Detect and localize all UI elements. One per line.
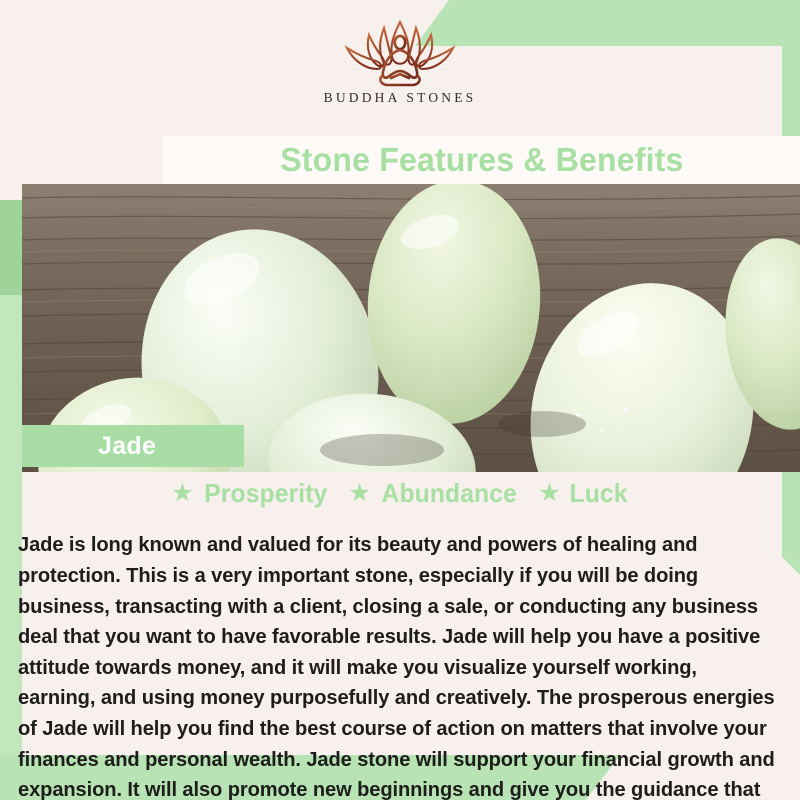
description-text: Jade is long known and valued for its be… — [18, 530, 776, 800]
benefit-label: Luck — [569, 478, 627, 509]
lotus-meditation-icon — [325, 16, 475, 88]
stone-name-badge: Jade — [22, 425, 244, 467]
star-icon: ★ — [538, 481, 560, 506]
benefit-label: Abundance — [381, 478, 516, 509]
decor-notch-left — [0, 200, 22, 295]
star-icon: ★ — [348, 481, 370, 506]
benefit-item: ★ Prosperity — [171, 478, 330, 509]
benefit-label: Prosperity — [204, 478, 327, 509]
star-icon: ★ — [171, 481, 193, 506]
stone-name-label: Jade — [98, 432, 156, 461]
brand-header: BUDDHA STONES — [0, 0, 800, 136]
benefits-row: ★ Prosperity ★ Abundance ★ Luck — [0, 478, 800, 509]
poster-canvas: BUDDHA STONES Stone Features & Benefits — [0, 0, 800, 800]
page-title: Stone Features & Benefits — [280, 141, 683, 179]
brand-name: BUDDHA STONES — [324, 90, 477, 106]
benefit-item: ★ Abundance — [348, 478, 520, 509]
benefit-item: ★ Luck — [538, 478, 629, 509]
title-banner: Stone Features & Benefits — [163, 136, 800, 184]
description-block: Jade is long known and valued for its be… — [18, 510, 788, 800]
